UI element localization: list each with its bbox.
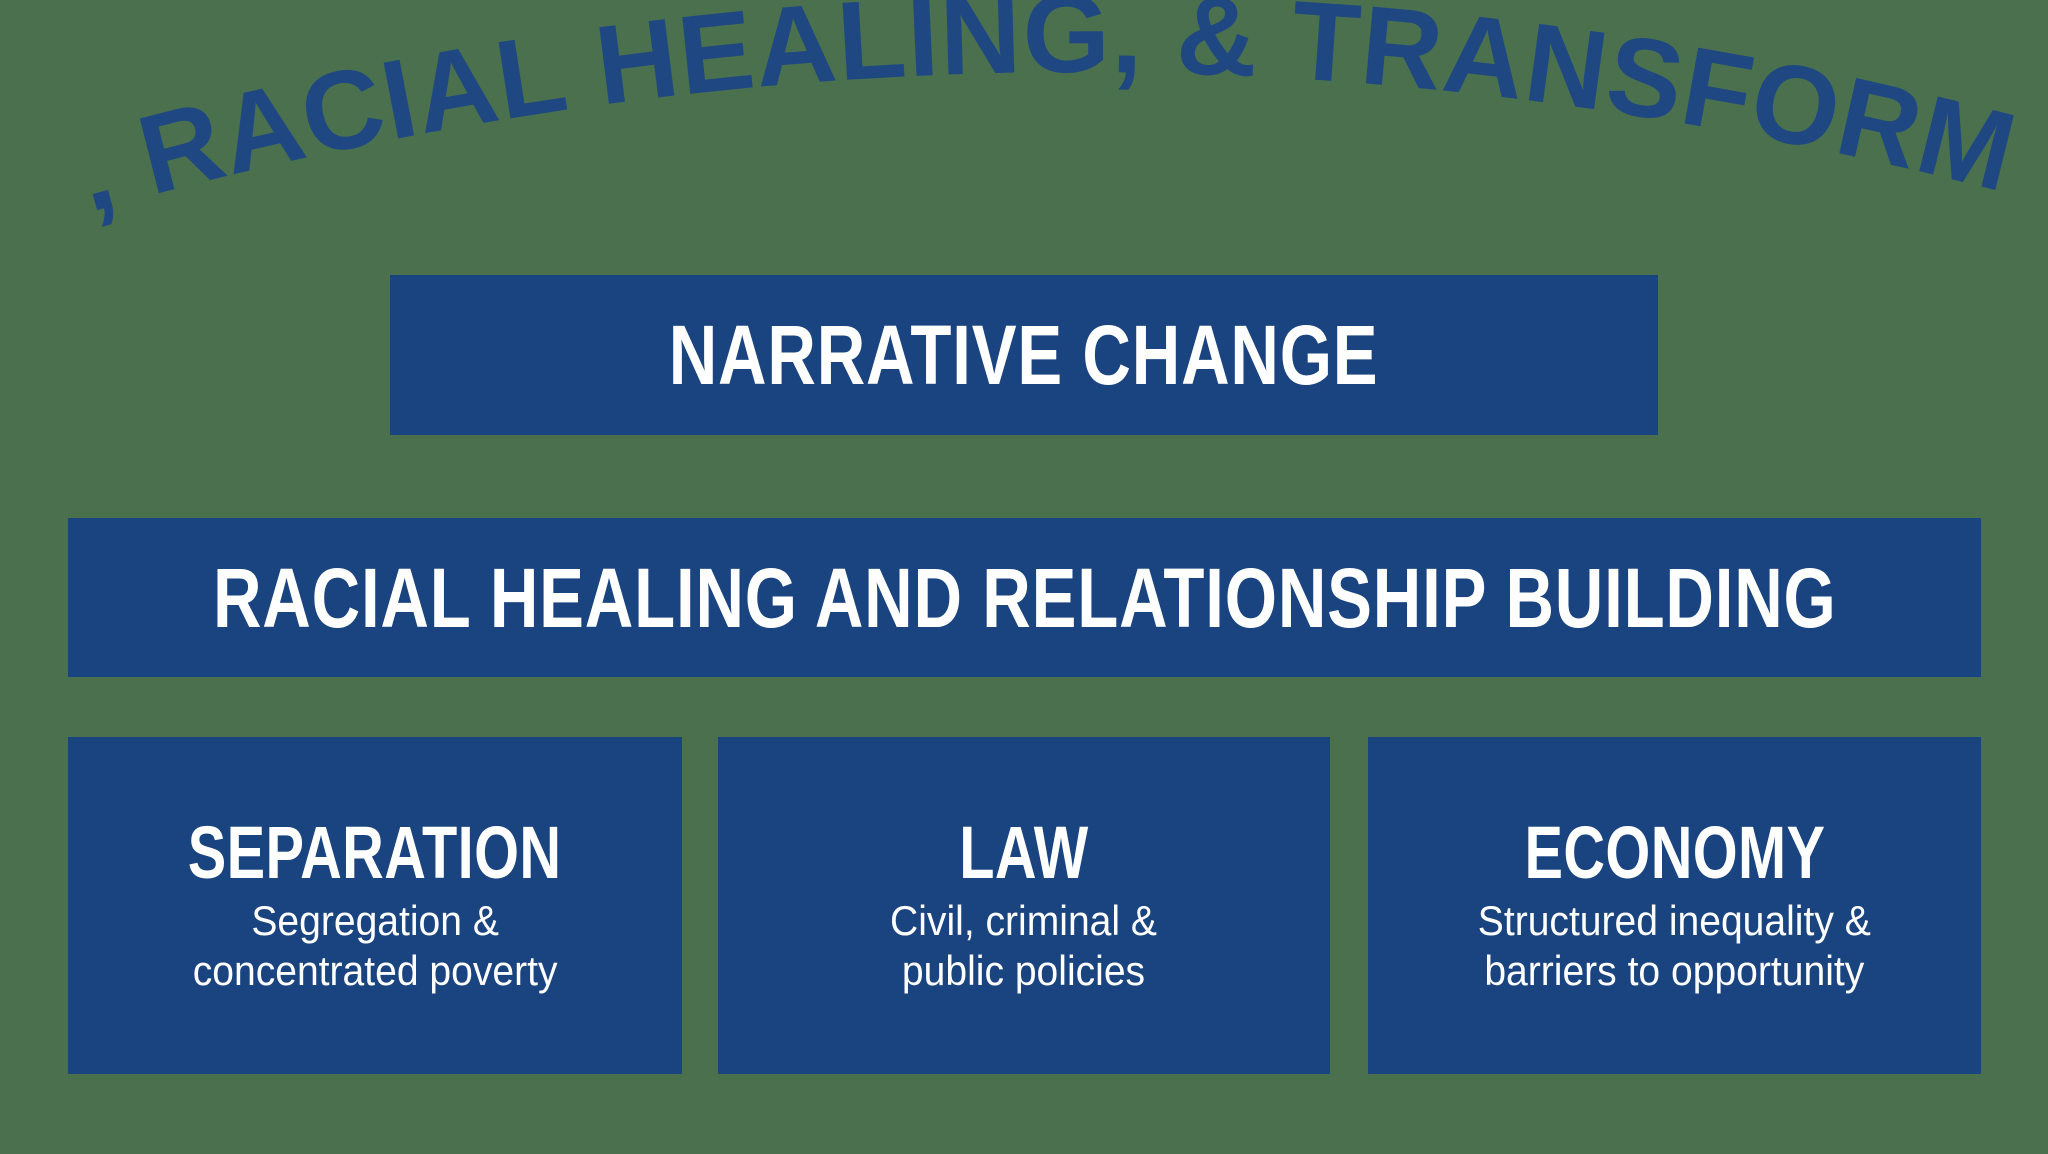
card-law[interactable]: LAW Civil, criminal & public policies — [718, 737, 1330, 1074]
card-law-desc-line-1: Civil, criminal & — [891, 896, 1158, 946]
arched-title: TRUTH, RACIAL HEALING, & TRANSFORMATION — [0, 0, 2048, 230]
card-economy[interactable]: ECONOMY Structured inequality & barriers… — [1368, 737, 1981, 1074]
card-law-title: LAW — [959, 816, 1088, 890]
page-title: TRUTH, RACIAL HEALING, & TRANSFORMATION — [0, 0, 2028, 230]
card-economy-title: ECONOMY — [1524, 816, 1825, 890]
bar-racial-healing[interactable]: RACIAL HEALING AND RELATIONSHIP BUILDING — [68, 518, 1981, 677]
page-title-text: TRUTH, RACIAL HEALING, & TRANSFORMATION — [0, 0, 2028, 230]
bar-racial-healing-label: RACIAL HEALING AND RELATIONSHIP BUILDING — [213, 556, 1837, 640]
trht-framework-infographic: TRUTH, RACIAL HEALING, & TRANSFORMATION … — [0, 0, 2048, 1154]
card-separation[interactable]: SEPARATION Segregation & concentrated po… — [68, 737, 682, 1074]
card-economy-desc-line-2: barriers to opportunity — [1478, 946, 1871, 996]
card-law-description: Civil, criminal & public policies — [881, 896, 1167, 995]
card-economy-desc-line-1: Structured inequality & — [1478, 896, 1871, 946]
bar-narrative-change-label: NARRATIVE CHANGE — [669, 313, 1379, 397]
card-economy-description: Structured inequality & barriers to oppo… — [1469, 896, 1881, 995]
card-separation-description: Segregation & concentrated poverty — [183, 896, 566, 995]
bar-narrative-change[interactable]: NARRATIVE CHANGE — [390, 275, 1658, 435]
card-separation-desc-line-1: Segregation & — [193, 896, 558, 946]
card-separation-title: SEPARATION — [188, 816, 562, 890]
card-law-desc-line-2: public policies — [891, 946, 1158, 996]
card-separation-desc-line-2: concentrated poverty — [193, 946, 558, 996]
